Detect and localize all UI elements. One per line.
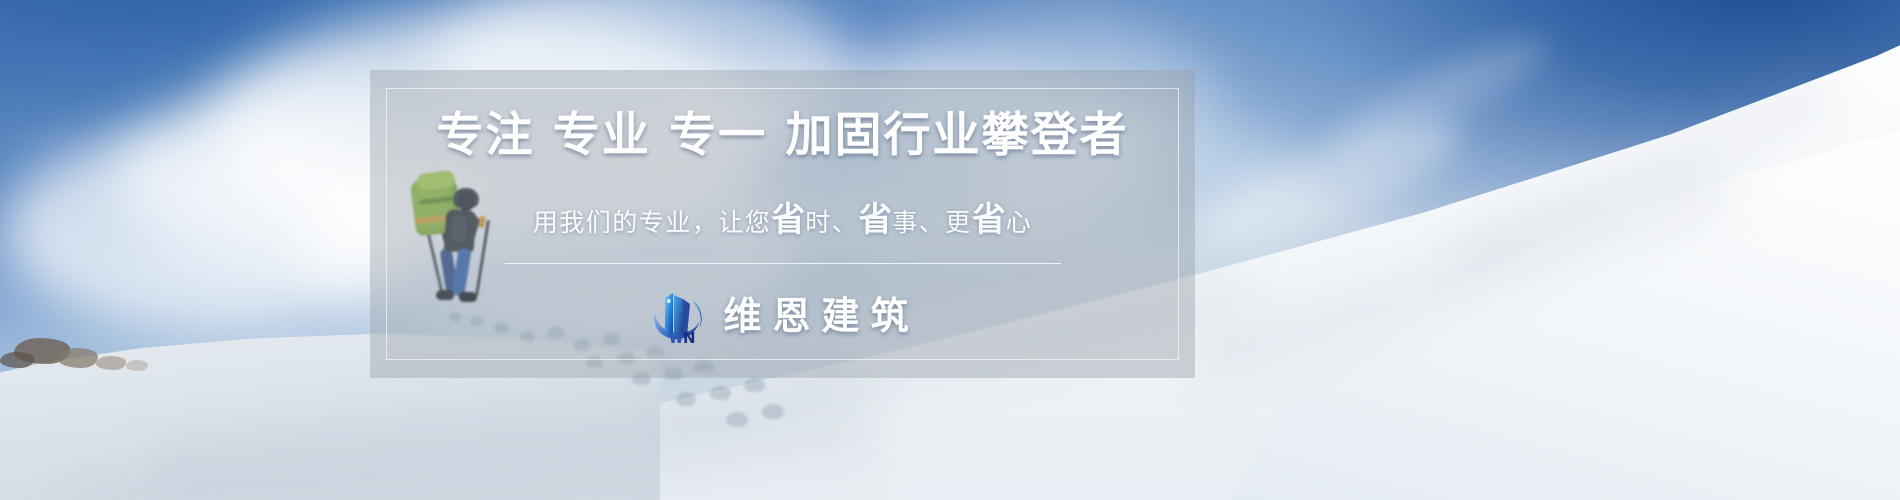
banner-subtitle: 用我们的专业，让您省时、省事、更省心 bbox=[533, 203, 1033, 237]
logo-letter-n: N bbox=[683, 329, 696, 346]
rock bbox=[0, 352, 34, 368]
logo-window bbox=[667, 299, 671, 303]
footprint bbox=[676, 392, 696, 406]
company-logo-icon: W N bbox=[645, 286, 707, 346]
text-overlay-panel: 专注 专业 专一 加固行业攀登者 用我们的专业，让您省时、省事、更省心 bbox=[370, 70, 1195, 378]
logo-letter-w: W bbox=[669, 332, 683, 346]
brand-name: 维恩建筑 bbox=[723, 297, 919, 335]
rock bbox=[126, 360, 148, 371]
subtitle-emphasis-2: 省 bbox=[858, 203, 892, 237]
footprint bbox=[726, 412, 748, 427]
footprint bbox=[744, 378, 765, 392]
subtitle-part-1: 用我们的专业，让您 bbox=[533, 210, 772, 235]
panel-content: 专注 专业 专一 加固行业攀登者 用我们的专业，让您省时、省事、更省心 bbox=[370, 70, 1195, 378]
subtitle-part-3: 事、更 bbox=[892, 210, 972, 235]
logo-tower-right bbox=[674, 295, 683, 336]
logo-svg: W N bbox=[645, 286, 707, 346]
hero-banner: 专注 专业 专一 加固行业攀登者 用我们的专业，让您省时、省事、更省心 bbox=[0, 0, 1900, 500]
footprint bbox=[762, 404, 784, 419]
subtitle-part-4: 心 bbox=[1006, 210, 1033, 235]
logo-swoosh-tail bbox=[692, 301, 702, 329]
subtitle-part-2: 时、 bbox=[805, 210, 858, 235]
rock bbox=[96, 356, 126, 370]
brand-row: W N 维恩建筑 bbox=[645, 286, 919, 346]
footprint bbox=[710, 386, 731, 400]
horizontal-divider bbox=[505, 263, 1061, 264]
subtitle-emphasis-1: 省 bbox=[771, 203, 805, 237]
banner-headline: 专注 专业 专一 加固行业攀登者 bbox=[436, 112, 1128, 159]
rock bbox=[58, 348, 98, 368]
subtitle-emphasis-3: 省 bbox=[972, 203, 1006, 237]
